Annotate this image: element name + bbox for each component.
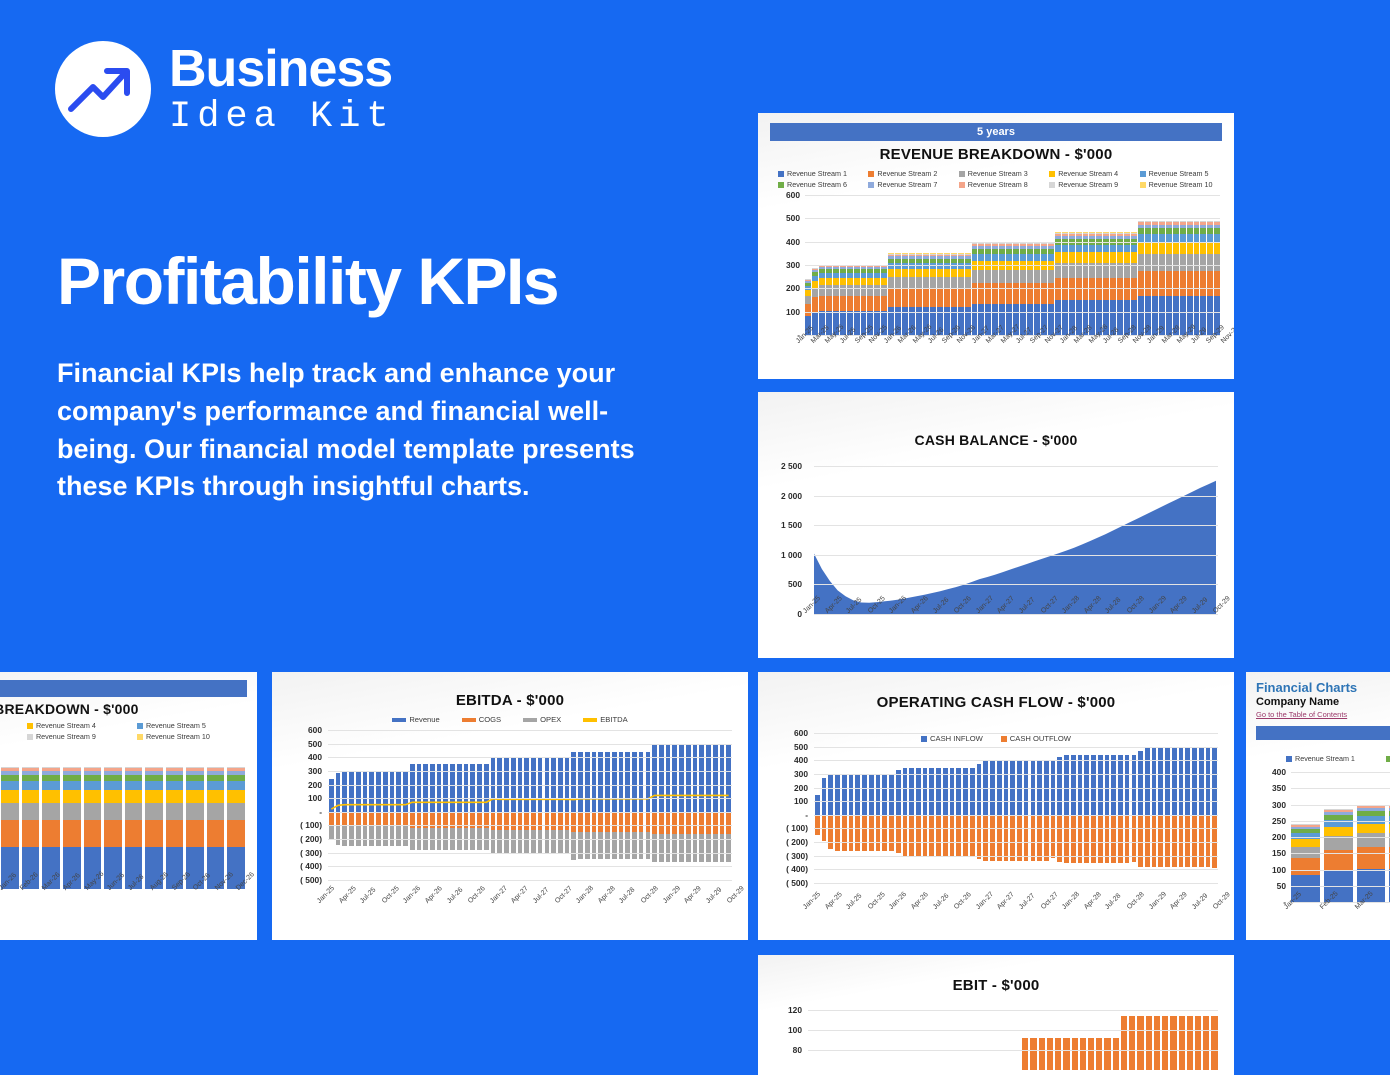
bar-segment <box>186 803 204 821</box>
bar-positive <box>1158 748 1163 815</box>
y-axis-tick: 300 <box>1272 800 1286 810</box>
x-axis-tick: Jul-28 <box>1104 893 1122 911</box>
bar-segment <box>1173 271 1179 296</box>
bar-segment <box>1013 254 1019 261</box>
y-axis-tick: 150 <box>1272 848 1286 858</box>
bar-segment <box>1200 271 1206 296</box>
bar-segment <box>1027 270 1033 283</box>
bar-segment <box>972 270 978 283</box>
y-axis-tick: ( 500) <box>300 875 322 885</box>
bar-segment <box>847 278 853 285</box>
bar-segment <box>937 289 943 307</box>
grid-line <box>814 747 1218 748</box>
bar-segment <box>819 296 825 312</box>
bar-segment <box>972 283 978 303</box>
bar-segment <box>207 781 225 790</box>
y-axis-tick: 600 <box>786 190 800 200</box>
bar-negative-primary <box>896 815 901 853</box>
grid-line <box>814 496 1218 497</box>
bar-column <box>1070 733 1077 883</box>
bar-positive <box>1064 755 1069 815</box>
bar-negative-primary <box>1004 815 1009 861</box>
grid-line <box>328 853 732 854</box>
bar-segment <box>1180 243 1186 254</box>
bar-column <box>1077 733 1084 883</box>
bar-column <box>989 733 996 883</box>
legend-item: COGS <box>462 715 501 724</box>
bar-segment <box>888 289 894 307</box>
bar-segment <box>1214 271 1220 296</box>
bar-column <box>868 733 875 883</box>
bar-segment <box>999 254 1005 261</box>
y-axis-tick: 400 <box>786 237 800 247</box>
grid-line <box>814 525 1218 526</box>
bar-segment <box>145 820 163 847</box>
chart-card-ebit[interactable]: EBIT - $'000 12010080 <box>758 955 1234 1075</box>
y-axis-tick: 500 <box>786 213 800 223</box>
bar-segment <box>1357 833 1386 847</box>
x-axis-tick: Jan-27 <box>489 885 509 905</box>
y-axis-tick: 300 <box>794 769 808 779</box>
bar-segment <box>1041 283 1047 303</box>
bar-negative-primary <box>1051 815 1056 859</box>
bar-column <box>1090 733 1097 883</box>
legend-swatch-icon <box>1049 171 1055 177</box>
legend-swatch-icon <box>959 182 965 188</box>
legend-item: Revenue Stream 3 <box>0 721 27 730</box>
bar-column <box>881 733 888 883</box>
bar-negative-primary <box>923 815 928 857</box>
bar-column <box>1191 733 1198 883</box>
x-axis-tick: Oct-27 <box>1040 891 1060 911</box>
legend-label: Revenue Stream 4 <box>36 721 96 730</box>
bar <box>1170 1016 1176 1070</box>
legend-item: Revenue Stream 6 <box>1386 754 1390 763</box>
bar-negative-primary <box>1145 815 1150 868</box>
bar-segment <box>42 820 60 847</box>
x-axis-tick: Jul-27 <box>1018 893 1036 911</box>
bar-segment <box>1194 271 1200 296</box>
bar-segment <box>819 285 825 295</box>
bar <box>1211 1016 1217 1070</box>
legend-item: Revenue Stream 10 <box>1132 180 1222 189</box>
bar <box>1195 1016 1201 1070</box>
bar-positive <box>909 768 914 815</box>
bar-segment <box>1173 243 1179 254</box>
stacked-bar <box>166 749 184 889</box>
legend-swatch-icon <box>523 718 537 722</box>
company-name-label: Company Name <box>1256 696 1390 708</box>
bar-segment <box>944 289 950 307</box>
page-title: Profitability KPIs <box>57 243 558 319</box>
x-axis-tick: Oct-27 <box>554 885 574 905</box>
y-axis-tick: ( 300) <box>786 851 808 861</box>
x-axis-tick: Apr-25 <box>338 885 358 905</box>
bar-negative-primary <box>1172 815 1177 868</box>
bar-positive <box>882 774 887 815</box>
bar-segment <box>84 790 102 802</box>
bar-positive <box>1078 755 1083 815</box>
y-axis-tick: 1 500 <box>781 520 802 530</box>
grid-line <box>1291 886 1390 887</box>
bar-negative-primary <box>1152 815 1157 868</box>
y-axis-tick: 400 <box>308 752 322 762</box>
bar-segment <box>1166 254 1172 271</box>
legend-swatch-icon <box>583 718 597 722</box>
bar-segment <box>125 781 143 790</box>
bar-segment <box>1124 252 1130 262</box>
y-axis-tick: ( 400) <box>786 864 808 874</box>
x-axis-tick: Jan-28 <box>575 885 595 905</box>
bar-column <box>1184 733 1191 883</box>
bar-segment <box>1187 243 1193 254</box>
bar-segment <box>1194 254 1200 271</box>
bar-negative-primary <box>909 815 914 857</box>
bar-segment <box>1138 243 1144 254</box>
bar-negative-primary <box>855 815 860 851</box>
bar-column <box>1157 733 1164 883</box>
bar-negative-primary <box>1179 815 1184 868</box>
legend-swatch-icon <box>137 723 143 729</box>
bar-negative-primary <box>950 815 955 857</box>
legend-item: Revenue Stream 8 <box>0 732 27 741</box>
x-axis-ebitda: Jan-25Apr-25Jul-25Oct-25Jan-26Apr-26Jul-… <box>314 898 746 928</box>
bar-segment <box>1 790 19 802</box>
y-axis-tick: 100 <box>1272 865 1286 875</box>
bar-segment <box>227 790 245 802</box>
bar-positive <box>855 774 860 815</box>
bar-segment <box>923 289 929 307</box>
bar-column <box>861 733 868 883</box>
stacked-bar <box>1 749 19 889</box>
chart-card-ebitda[interactable]: EBITDA - $'000 RevenueCOGSOPEXEBITDA 600… <box>272 672 748 940</box>
bar-negative-primary <box>977 815 982 859</box>
bar-segment <box>1 803 19 821</box>
legend-label: Revenue Stream 10 <box>146 732 210 741</box>
bar-segment <box>104 803 122 821</box>
y-axis-tick: 350 <box>1272 783 1286 793</box>
stacked-bar <box>22 749 40 889</box>
bar-negative-primary <box>889 815 894 851</box>
bar-segment <box>972 254 978 261</box>
bar-segment <box>22 775 40 782</box>
bar-negative-primary <box>862 815 867 851</box>
legend-swatch-icon <box>1386 756 1390 762</box>
bar-positive <box>1152 748 1157 815</box>
bar-segment <box>125 820 143 847</box>
x-axis-tick: Apr-28 <box>597 885 617 905</box>
bar-segment <box>42 781 60 790</box>
brand-logo: Business Idea Kit <box>55 41 395 137</box>
bar-negative-primary <box>936 815 941 857</box>
bar-segment <box>985 270 991 283</box>
chart-card-revenue-breakdown-24m[interactable]: 24 months REVENUE BREAKDOWN - $'000 Reve… <box>0 672 257 940</box>
bar-segment <box>1138 271 1144 296</box>
y-axis-ebit: 12010080 <box>772 1000 806 1070</box>
bar-segment <box>1083 245 1089 253</box>
bar-positive <box>1212 748 1217 815</box>
bar-segment <box>145 775 163 782</box>
bar-positive <box>1084 755 1089 815</box>
bar-positive <box>923 768 928 815</box>
bar-segment <box>1096 252 1102 262</box>
grid-line <box>1291 837 1390 838</box>
x-axis-tick: Jan-26 <box>888 891 908 911</box>
bar-segment <box>1062 252 1068 262</box>
grid-line <box>814 788 1218 789</box>
bar-segment <box>881 285 887 295</box>
hero-description: Financial KPIs help track and enhance yo… <box>57 355 657 506</box>
bar-segment <box>63 803 81 821</box>
bar-negative-primary <box>1024 815 1029 861</box>
bar-segment <box>1357 847 1386 868</box>
bar-segment <box>833 285 839 295</box>
y-axis-tick: 100 <box>788 1025 802 1035</box>
legend-item: Revenue Stream 9 <box>27 732 137 741</box>
bar-positive <box>835 774 840 815</box>
y-axis-tick: 120 <box>788 1005 802 1015</box>
bar-segment <box>847 296 853 312</box>
bar-negative-primary <box>1138 815 1143 867</box>
bar-positive <box>1185 748 1190 815</box>
legend-item: EBITDA <box>583 715 627 724</box>
x-axis-tick: Jul-29 <box>705 887 723 905</box>
area-series-cash-balance <box>814 466 1216 614</box>
grid-line <box>814 584 1218 585</box>
bar-segment <box>999 283 1005 303</box>
bar-segment <box>812 281 818 288</box>
bar-negative-primary <box>1192 815 1197 868</box>
bar-column <box>895 733 902 883</box>
x-axis-tick: Jan-26 <box>402 885 422 905</box>
bar-column <box>955 733 962 883</box>
bar-positive <box>862 774 867 815</box>
grid-line <box>328 825 732 826</box>
bar-segment <box>125 790 143 802</box>
bar-segment <box>22 781 40 790</box>
bar-segment <box>1131 245 1137 253</box>
bar-segment <box>145 781 163 790</box>
bar-positive <box>936 768 941 815</box>
bar-segment <box>1117 252 1123 262</box>
bar-segment <box>1 775 19 782</box>
bar-positive <box>977 764 982 815</box>
bar-negative-primary <box>1165 815 1170 868</box>
bar-positive <box>916 768 921 815</box>
bar-segment <box>985 283 991 303</box>
y-axis-tick: 80 <box>793 1045 802 1055</box>
bar-segment <box>1103 252 1109 262</box>
y-axis-tick: 400 <box>794 755 808 765</box>
bar-segment <box>1089 252 1095 262</box>
bar-segment <box>63 820 81 847</box>
bar-segment <box>104 790 122 802</box>
grid-line <box>814 828 1218 829</box>
legend-swatch-icon <box>868 182 874 188</box>
bar-segment <box>227 803 245 821</box>
bar-segment <box>1207 271 1213 296</box>
bar-column <box>996 733 1003 883</box>
bar-segment <box>1124 245 1130 253</box>
stacked-bar <box>145 749 163 889</box>
bar-positive <box>929 768 934 815</box>
x-axis-tick: Jul-27 <box>532 887 550 905</box>
legend-swatch-icon <box>27 723 33 729</box>
bar-negative-primary <box>997 815 1002 861</box>
bar-column <box>1164 733 1171 883</box>
bar-positive <box>1125 755 1130 815</box>
bar-segment <box>1110 245 1116 253</box>
bar-segment <box>1214 254 1220 271</box>
bar-positive <box>1057 757 1062 815</box>
legend-label: Revenue Stream 5 <box>1149 169 1209 178</box>
bar-segment <box>1152 243 1158 254</box>
x-axis-tick: Oct-25 <box>381 885 401 905</box>
bar <box>1179 1016 1185 1070</box>
legend-swatch-icon <box>392 718 406 722</box>
bar-segment <box>84 803 102 821</box>
bar-segment <box>207 803 225 821</box>
bar-segment <box>1357 824 1386 834</box>
bar-column <box>834 733 841 883</box>
bar-positive <box>963 768 968 815</box>
bar-segment <box>847 285 853 295</box>
bar-segment <box>840 278 846 285</box>
bar-segment <box>965 269 971 277</box>
bar-column <box>814 733 821 883</box>
stacked-bar <box>84 749 102 889</box>
bar-segment <box>1048 254 1054 261</box>
x-axis-tick: Oct-28 <box>640 885 660 905</box>
bar-column <box>1063 733 1070 883</box>
bar-column <box>1009 733 1016 883</box>
bar-segment <box>1138 254 1144 271</box>
chart-card-cash-balance[interactable]: CASH BALANCE - $'000 2 5002 0001 5001 00… <box>758 392 1234 658</box>
bar-segment <box>958 289 964 307</box>
bar-segment <box>166 781 184 790</box>
y-axis-tick: ( 400) <box>300 861 322 871</box>
legend-item: Revenue <box>392 715 439 724</box>
bar-column <box>1178 733 1185 883</box>
legend-label: Revenue Stream 9 <box>1058 180 1118 189</box>
x-axis-tick: Jul-29 <box>1191 893 1209 911</box>
bar-segment <box>930 269 936 277</box>
grid-line <box>805 312 1220 313</box>
table-of-contents-link[interactable]: Go to the Table of Contents <box>1256 710 1390 719</box>
y-axis-tick: - <box>805 810 808 820</box>
bar-column <box>942 733 949 883</box>
x-axis-tick: Jul-26 <box>932 893 950 911</box>
bar-segment <box>1006 270 1012 283</box>
bar-segment <box>1013 270 1019 283</box>
plot-area-ebit: 12010080 <box>772 1000 1220 1070</box>
bar-segment <box>916 269 922 277</box>
y-axis-tick: 100 <box>786 307 800 317</box>
grid-line <box>808 1030 1218 1031</box>
bar-segment <box>902 289 908 307</box>
x-axis-tick: Oct-29 <box>726 885 746 905</box>
chart-card-operating-cash-flow[interactable]: OPERATING CASH FLOW - $'000 CASH INFLOWC… <box>758 672 1234 940</box>
bar-column <box>915 733 922 883</box>
bar-segment <box>958 269 964 277</box>
bar-positive <box>1132 755 1137 815</box>
brand-wordmark: Business Idea Kit <box>169 43 395 136</box>
chart-title-revenue-breakdown-24m: REVENUE BREAKDOWN - $'000 <box>0 701 247 717</box>
y-axis-tick: 500 <box>788 579 802 589</box>
bar-segment <box>227 775 245 782</box>
bar-segment <box>1069 252 1075 262</box>
y-axis-tick: 300 <box>308 766 322 776</box>
bar-segment <box>1145 243 1151 254</box>
bar-segment <box>1187 254 1193 271</box>
bar-column <box>1104 733 1111 883</box>
grid-line <box>1291 772 1390 773</box>
bar-column <box>827 733 834 883</box>
legend-item: Revenue Stream 5 <box>137 721 247 730</box>
bar-segment <box>186 781 204 790</box>
legend-item: Revenue Stream 10 <box>137 732 247 741</box>
y-axis-financial-charts: 40035030025020015010050- <box>1256 772 1290 902</box>
bar-segment <box>1159 254 1165 271</box>
y-axis-tick: 2 500 <box>781 461 802 471</box>
x-axis-tick: Oct-28 <box>1126 891 1146 911</box>
grid-line <box>805 242 1220 243</box>
bar <box>1137 1016 1143 1070</box>
bar-positive <box>849 774 854 815</box>
bar-negative-primary <box>956 815 961 857</box>
x-axis-tick: Oct-29 <box>1212 891 1232 911</box>
x-axis-tick: Apr-26 <box>910 891 930 911</box>
x-axis-tick: Jul-28 <box>618 887 636 905</box>
legend-label: Revenue Stream 3 <box>968 169 1028 178</box>
legend-label: Revenue Stream 5 <box>146 721 206 730</box>
bar-segment <box>166 790 184 802</box>
growth-arrow-icon <box>65 49 141 130</box>
chart-card-revenue-breakdown-5y[interactable]: 5 years REVENUE BREAKDOWN - $'000 Revenu… <box>758 113 1234 379</box>
bar-column <box>908 733 915 883</box>
bar-negative-primary <box>1206 815 1211 868</box>
bar-segment <box>1034 254 1040 261</box>
bar-column <box>1131 733 1138 883</box>
bar-negative-primary <box>835 815 840 851</box>
bar-segment <box>854 278 860 285</box>
bar-segment <box>819 278 825 285</box>
bar-positive <box>1098 755 1103 815</box>
x-axis-revenue-24m: Sep-25Oct-25Nov-25Dec-25Jan-26Feb-26Mar-… <box>0 885 255 915</box>
chart-card-financial-charts[interactable]: Financial Charts Company Name Go to the … <box>1246 672 1390 940</box>
bar-positive <box>1071 755 1076 815</box>
bar-segment <box>1173 254 1179 271</box>
period-band-5-years: 5 years <box>770 123 1222 141</box>
y-axis-tick: ( 200) <box>300 834 322 844</box>
grid-line <box>805 288 1220 289</box>
x-axis-tick: Jan-27 <box>975 891 995 911</box>
bar-segment <box>895 269 901 277</box>
legend-label: Revenue Stream 4 <box>1058 169 1118 178</box>
bar-segment <box>805 304 811 316</box>
x-axis-revenue-5y: Jan-25Mar-25May-25Jul-25Sep-25Nov-25Jan-… <box>793 338 1232 368</box>
y-axis-tick: 500 <box>794 742 808 752</box>
financial-charts-heading: Financial Charts <box>1256 680 1390 695</box>
bar-segment <box>1006 254 1012 261</box>
bar-column <box>1036 733 1043 883</box>
brand-line-1: Business <box>169 43 395 95</box>
bar-segment <box>826 285 832 295</box>
chart-legend-revenue-streams: Revenue Stream 1Revenue Stream 2Revenue … <box>770 169 1222 191</box>
x-axis-tick: Jan-25 <box>802 891 822 911</box>
bar-negative-primary <box>876 815 881 851</box>
bar-positive <box>1172 748 1177 815</box>
